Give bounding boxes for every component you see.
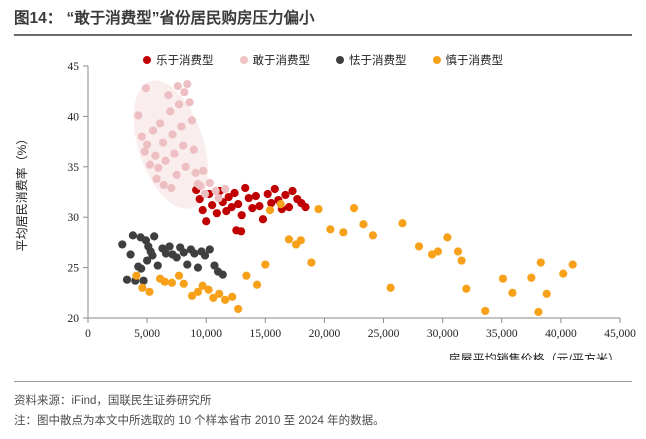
data-point (301, 203, 309, 211)
data-point (255, 202, 263, 210)
data-point (285, 235, 293, 243)
data-point (297, 236, 305, 244)
x-axis-tick-label: 30,000 (427, 328, 459, 340)
data-point (180, 248, 188, 256)
data-point (174, 82, 182, 90)
x-axis-tick-label: 35,000 (486, 328, 518, 340)
data-point (201, 190, 209, 198)
data-point (271, 185, 279, 193)
data-point (359, 220, 367, 228)
data-point (202, 217, 210, 225)
data-point (186, 98, 194, 106)
y-axis-tick-label: 40 (68, 111, 80, 123)
data-point (534, 308, 542, 316)
data-point (219, 271, 227, 279)
data-point (138, 132, 146, 140)
y-axis-tick-label: 30 (68, 212, 80, 224)
data-point (149, 126, 157, 134)
data-point (237, 227, 245, 235)
data-point (248, 204, 256, 212)
data-point (266, 206, 274, 214)
data-point (499, 275, 507, 283)
data-point (139, 277, 147, 285)
data-point (161, 278, 169, 286)
data-point (234, 305, 242, 313)
data-point (543, 290, 551, 298)
data-point (151, 152, 159, 160)
data-point (339, 228, 347, 236)
data-point (537, 258, 545, 266)
x-axis-tick-label: 15,000 (250, 328, 282, 340)
data-point (569, 260, 577, 268)
x-axis-tick-label: 10,000 (190, 328, 222, 340)
data-point (369, 231, 377, 239)
data-point (181, 163, 189, 171)
y-axis-tick-label: 20 (68, 313, 80, 325)
data-point (188, 116, 196, 124)
data-point (314, 205, 322, 213)
data-point (164, 91, 172, 99)
data-point (180, 280, 188, 288)
x-axis-tick-label: 40,000 (545, 328, 577, 340)
data-point (350, 204, 358, 212)
data-point (191, 169, 199, 177)
data-point (175, 100, 183, 108)
data-point (508, 289, 516, 297)
data-point (154, 261, 162, 269)
data-point (190, 146, 198, 154)
data-point (168, 130, 176, 138)
data-point (152, 175, 160, 183)
data-point (252, 192, 260, 200)
x-axis-tick-label: 5,000 (134, 328, 160, 340)
data-point (221, 185, 229, 193)
data-point (264, 190, 272, 198)
data-point (123, 276, 131, 284)
figure-footer: 资料来源：iFind，国联民生证券研究所 注：图中散点为本文中所选取的 10 个… (14, 381, 632, 431)
data-point (138, 284, 146, 292)
data-point (160, 181, 168, 189)
data-point (228, 293, 236, 301)
page-title: 图14： “敢于消费型”省份居民购房压力偏小 (14, 8, 632, 30)
source-line: 资料来源：iFind，国联民生证券研究所 (14, 391, 632, 411)
footer-divider (14, 381, 632, 382)
data-point (166, 107, 174, 115)
data-point (462, 285, 470, 293)
figure-header: 图14： “敢于消费型”省份居民购房压力偏小 (14, 8, 632, 38)
scatter-chart: 20253035404505,00010,00015,00020,00025,0… (0, 60, 646, 360)
data-point (142, 84, 150, 92)
data-point (146, 161, 154, 169)
data-point (281, 191, 289, 199)
data-point (126, 250, 134, 258)
data-point (434, 247, 442, 255)
data-point (194, 264, 202, 272)
data-point (259, 215, 267, 223)
scatter-plot-canvas: 20253035404505,00010,00015,00020,00025,0… (0, 60, 646, 360)
data-point (132, 272, 140, 280)
data-point (307, 258, 315, 266)
data-point (212, 187, 220, 195)
data-point (129, 231, 137, 239)
data-point (242, 272, 250, 280)
data-point (199, 167, 207, 175)
data-point (481, 307, 489, 315)
data-point (285, 203, 293, 211)
data-point (150, 232, 158, 240)
data-point (161, 157, 169, 165)
data-point (277, 200, 285, 208)
data-point (241, 184, 249, 192)
data-point (206, 245, 214, 253)
data-point (415, 242, 423, 250)
data-point (170, 150, 178, 158)
data-point (173, 171, 181, 179)
data-point (175, 272, 183, 280)
data-point (206, 179, 214, 187)
data-point (196, 182, 204, 190)
data-point (159, 139, 167, 147)
note-line: 注：图中散点为本文中所选取的 10 个样本省市 2010 至 2024 年的数据… (14, 411, 632, 431)
data-point (177, 122, 185, 130)
data-point (457, 256, 465, 264)
data-point (230, 189, 238, 197)
y-axis-title: 平均居民消费率（%） (14, 133, 29, 252)
data-point (234, 200, 242, 208)
data-point (208, 201, 216, 209)
data-point (245, 194, 253, 202)
data-point (143, 141, 151, 149)
y-axis-tick-label: 25 (68, 263, 80, 275)
data-point (288, 187, 296, 195)
y-axis-tick-label: 45 (68, 61, 80, 73)
data-point (559, 270, 567, 278)
data-point (137, 233, 145, 241)
data-point (145, 288, 153, 296)
data-point (167, 184, 175, 192)
data-point (215, 290, 223, 298)
data-point (213, 209, 221, 217)
data-point (215, 194, 223, 202)
data-point (527, 274, 535, 282)
data-point (134, 111, 142, 119)
data-point (141, 148, 149, 156)
data-point (183, 260, 191, 268)
data-point (326, 225, 334, 233)
data-point (267, 199, 275, 207)
data-point (190, 249, 198, 257)
data-point (221, 296, 229, 304)
data-point (238, 211, 246, 219)
data-point (199, 206, 207, 214)
data-point (179, 142, 187, 150)
data-point (137, 265, 145, 273)
data-point (183, 80, 191, 88)
x-axis-title: 房屋平均销售价格（元/平方米） (449, 351, 620, 360)
x-axis-tick-label: 20,000 (309, 328, 341, 340)
data-point (168, 279, 176, 287)
data-point (180, 88, 188, 96)
data-point (454, 247, 462, 255)
title-divider (14, 34, 632, 36)
data-point (261, 260, 269, 268)
series-1-points (192, 184, 310, 236)
y-axis-tick-label: 35 (68, 162, 80, 174)
data-point (443, 233, 451, 241)
data-point (154, 164, 162, 172)
data-point (118, 240, 126, 248)
x-axis-tick-label: 0 (85, 328, 91, 340)
data-point (173, 253, 181, 261)
data-point (387, 284, 395, 292)
data-point (253, 281, 261, 289)
data-point (204, 286, 212, 294)
data-point (398, 219, 406, 227)
data-point (143, 256, 151, 264)
data-point (156, 119, 164, 127)
x-axis-tick-label: 25,000 (368, 328, 400, 340)
x-axis-tick-label: 45,000 (604, 328, 636, 340)
data-point (165, 242, 173, 250)
series-4-points (132, 200, 576, 316)
